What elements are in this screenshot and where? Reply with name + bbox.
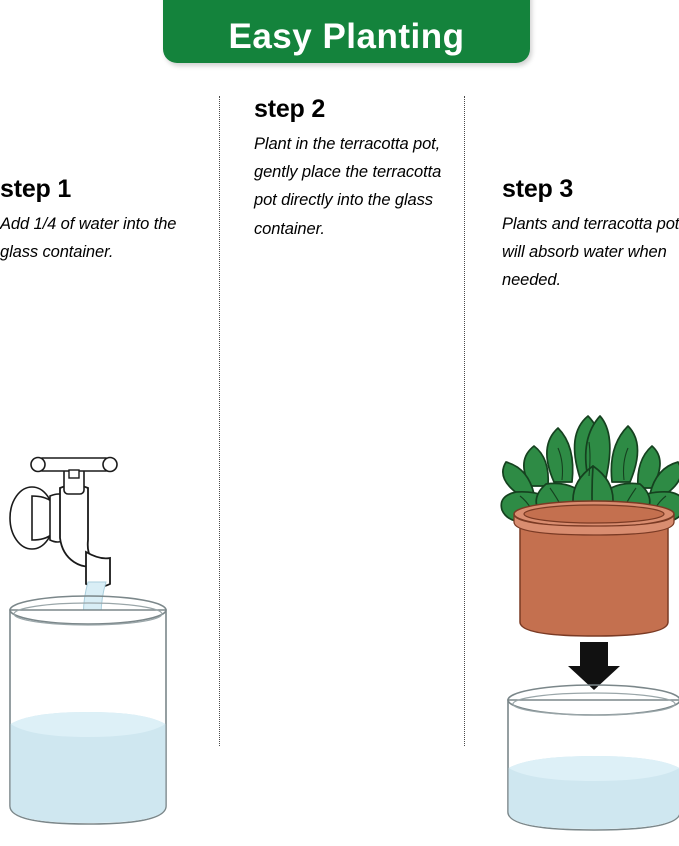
column-divider-2: [464, 96, 465, 746]
pot-rim-inner: [524, 505, 664, 523]
step-3-title: step 3: [502, 176, 679, 204]
leaf-back-2: [547, 428, 573, 482]
faucet-handle-bar: [36, 458, 112, 471]
column-divider-1: [219, 96, 220, 746]
leaf-back-5: [611, 426, 637, 482]
page-title: Easy Planting: [228, 19, 464, 54]
step-1-title: step 1: [0, 176, 200, 204]
step-1-description: Add 1/4 of water into the glass containe…: [0, 210, 200, 267]
step-1-illustration: [0, 456, 210, 846]
header-banner: Easy Planting: [163, 0, 530, 63]
step-1-text-block: step 1 Add 1/4 of water into the glass c…: [0, 176, 200, 266]
down-arrow-icon: [568, 642, 620, 690]
step-2-text-block: step 2 Plant in the terracotta pot, gent…: [254, 96, 454, 243]
step-2-title: step 2: [254, 96, 454, 124]
step-2-description: Plant in the terracotta pot, gently plac…: [254, 130, 454, 244]
faucet-handle-knob-left: [31, 458, 45, 472]
faucet-barrel: [60, 485, 100, 567]
faucet-handle-knob-right: [103, 458, 117, 472]
step-3-description: Plants and terracotta pot will absorb wa…: [502, 210, 679, 295]
step-2-illustration: [494, 390, 679, 842]
faucet-handle-stem: [69, 470, 79, 478]
step-3-text-block: step 3 Plants and terracotta pot will ab…: [502, 176, 679, 295]
